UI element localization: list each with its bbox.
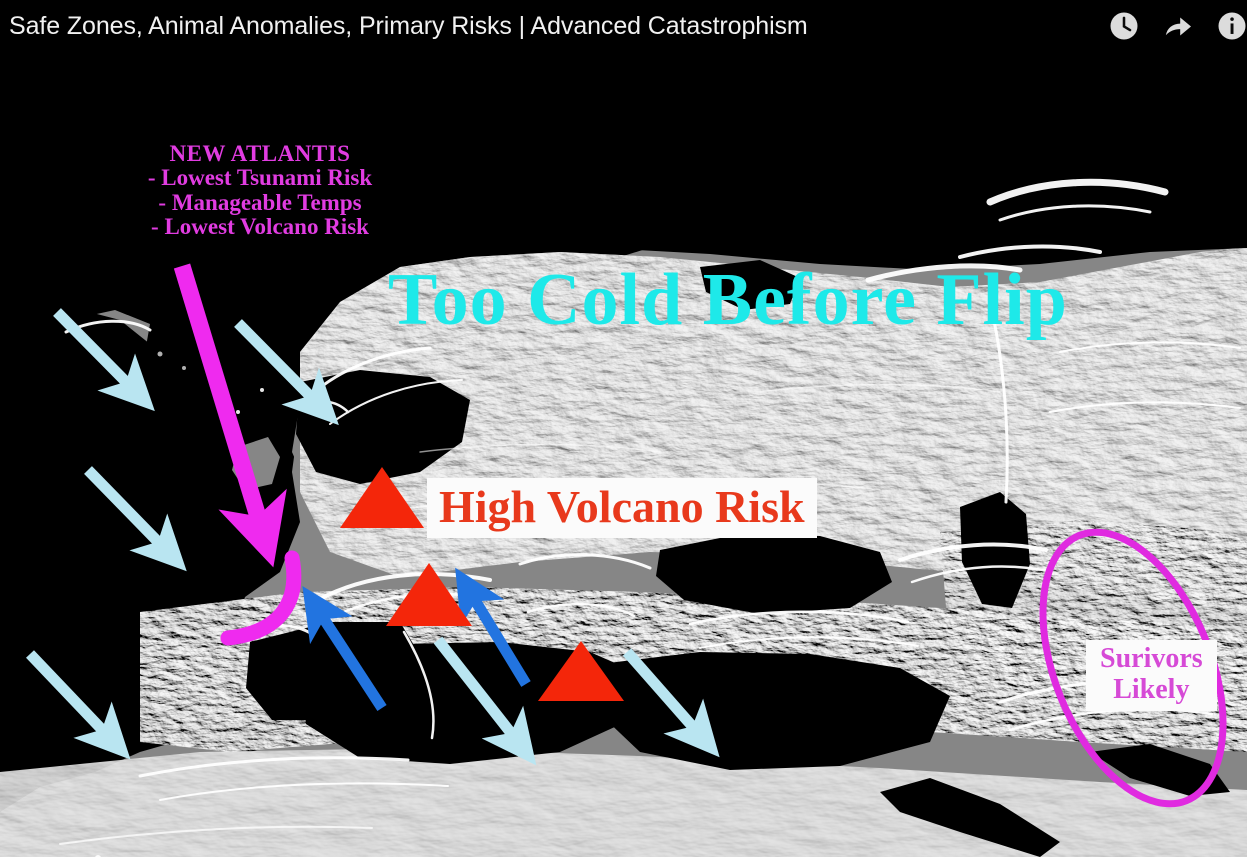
page-title: Safe Zones, Animal Anomalies, Primary Ri… (9, 6, 808, 46)
watch-later-icon[interactable] (1106, 8, 1142, 44)
info-icon[interactable] (1214, 8, 1247, 44)
share-icon[interactable] (1161, 8, 1197, 44)
shaded-relief-terrain (0, 52, 1247, 857)
map-canvas (0, 52, 1247, 857)
video-player-top-bar: Safe Zones, Animal Anomalies, Primary Ri… (0, 0, 1247, 52)
